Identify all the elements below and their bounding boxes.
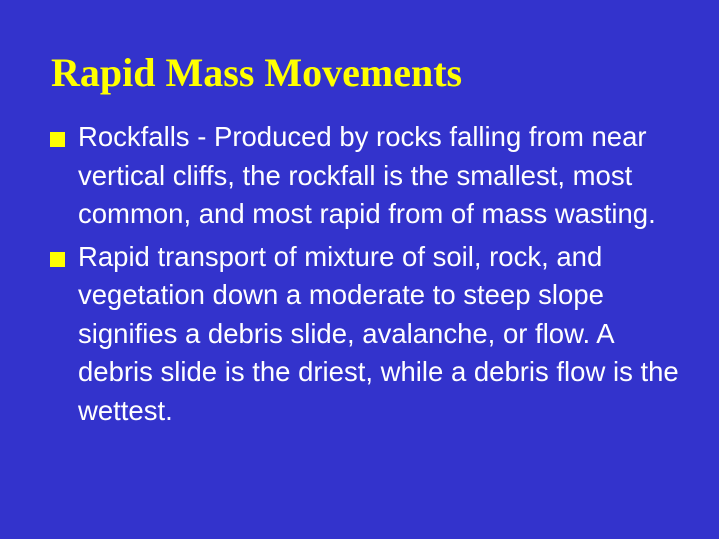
- list-item: Rapid transport of mixture of soil, rock…: [47, 238, 687, 431]
- square-bullet-icon: [50, 252, 65, 267]
- square-bullet-icon: [50, 132, 65, 147]
- presentation-slide: Rapid Mass Movements Rockfalls - Produce…: [0, 0, 719, 539]
- list-item-text: Rapid transport of mixture of soil, rock…: [78, 238, 687, 431]
- list-item: Rockfalls - Produced by rocks falling fr…: [47, 118, 687, 234]
- page-title: Rapid Mass Movements: [51, 50, 691, 96]
- list-item-text: Rockfalls - Produced by rocks falling fr…: [78, 118, 687, 234]
- slide-body: Rockfalls - Produced by rocks falling fr…: [47, 118, 687, 434]
